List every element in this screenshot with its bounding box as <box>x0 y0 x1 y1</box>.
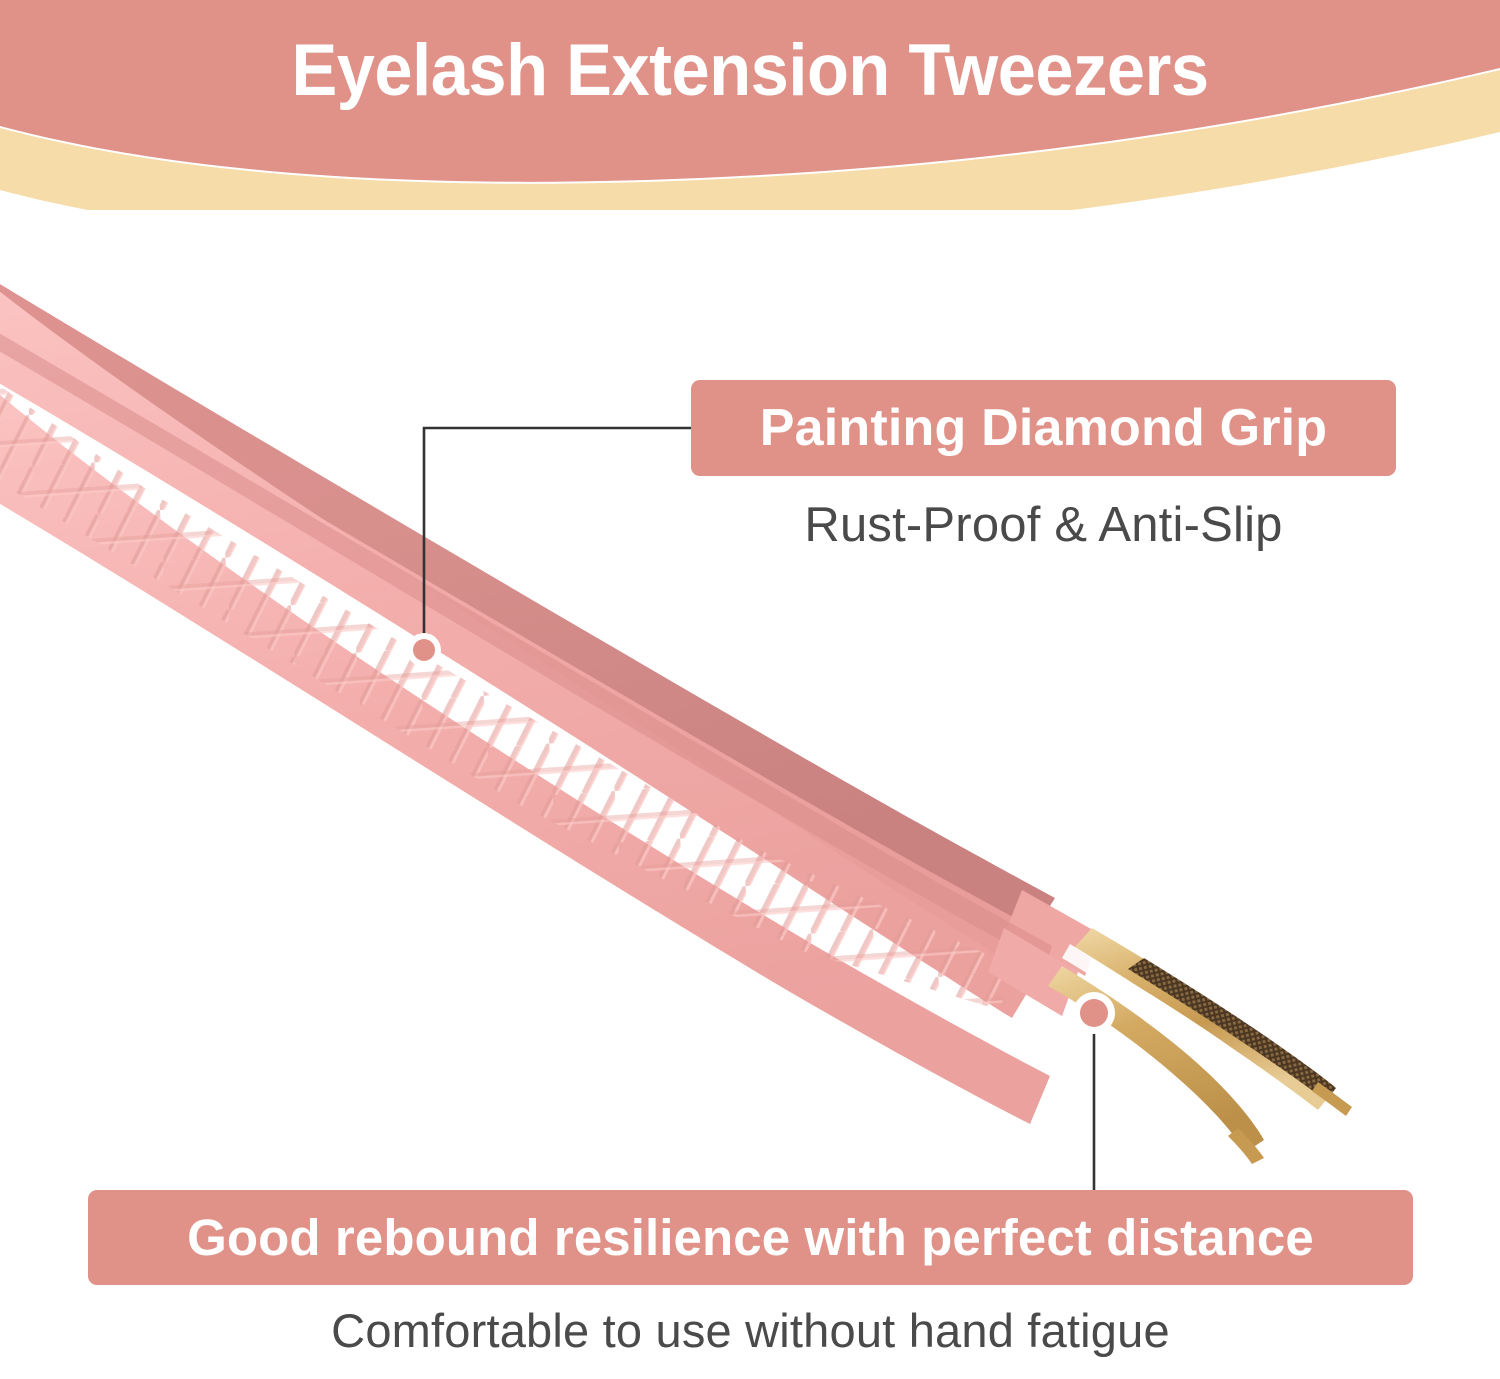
product-illustration <box>0 0 1500 1379</box>
callout-rebound-subcaption: Comfortable to use without hand fatigue <box>88 1305 1413 1357</box>
callout-rebound-badge: Good rebound resilience with perfect dis… <box>88 1190 1413 1285</box>
callout-good-rebound-resilience: Good rebound resilience with perfect dis… <box>88 1190 1413 1357</box>
callout-grip-badge: Painting Diamond Grip <box>691 380 1396 476</box>
callout-painting-diamond-grip: Painting Diamond Grip Rust-Proof & Anti-… <box>691 380 1396 552</box>
tweezer-upper-arm-edge <box>0 272 1055 930</box>
tweezer-upper-tip-knurl <box>1128 958 1336 1101</box>
infographic-canvas: Eyelash Extension Tweezers <box>0 0 1500 1379</box>
callout-grip-subcaption: Rust-Proof & Anti-Slip <box>691 498 1396 552</box>
page-title: Eyelash Extension Tweezers <box>45 34 1455 108</box>
